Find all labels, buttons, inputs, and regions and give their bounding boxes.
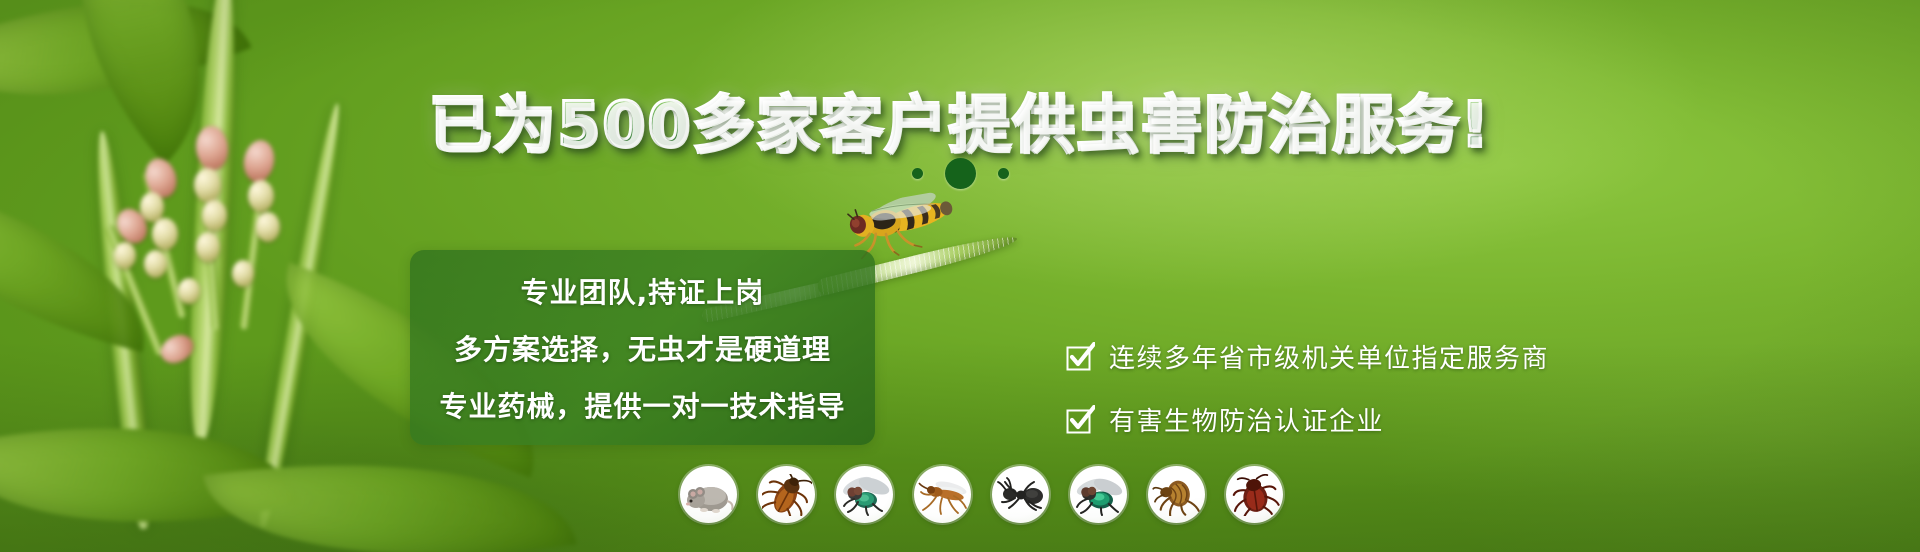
headline-text: 已为500多家客户提供虫害防治服务!: [429, 74, 1491, 164]
mosquito-icon[interactable]: [914, 466, 971, 523]
selling-points-panel: 专业团队,持证上岗 多方案选择，无虫才是硬道理 专业药械，提供一对一技术指导: [410, 250, 875, 445]
dot-small-right-icon: [998, 168, 1009, 179]
checkbox-checked-icon: [1065, 405, 1095, 435]
panel-line-3: 专业药械，提供一对一技术指导: [424, 385, 861, 425]
page-title: 已为500多家客户提供虫害防治服务!: [0, 74, 1920, 164]
panel-line-2: 多方案选择，无虫才是硬道理: [424, 328, 861, 368]
list-item: 有害生物防治认证企业: [1065, 401, 1549, 438]
blowfly-icon[interactable]: [836, 466, 893, 523]
flea-icon[interactable]: [1148, 466, 1205, 523]
bedbug-icon[interactable]: [1226, 466, 1283, 523]
list-item: 连续多年省市级机关单位指定服务商: [1065, 338, 1549, 375]
panel-line-1: 专业团队,持证上岗: [424, 271, 861, 311]
bullet-label: 连续多年省市级机关单位指定服务商: [1109, 338, 1549, 375]
mouse-icon[interactable]: [680, 466, 737, 523]
cockroach-icon[interactable]: [758, 466, 815, 523]
ant-icon[interactable]: [992, 466, 1049, 523]
dot-big-center-icon: [945, 158, 976, 189]
dot-small-left-icon: [912, 168, 923, 179]
pest-control-banner: 已为500多家客户提供虫害防治服务!: [0, 0, 1920, 552]
greenfly-icon[interactable]: [1070, 466, 1127, 523]
decorative-dots: [0, 158, 1920, 189]
pest-icon-row: [680, 466, 1283, 523]
certification-bullets: 连续多年省市级机关单位指定服务商 有害生物防治认证企业: [1065, 338, 1549, 438]
bullet-label: 有害生物防治认证企业: [1109, 401, 1384, 438]
checkbox-checked-icon: [1065, 342, 1095, 372]
